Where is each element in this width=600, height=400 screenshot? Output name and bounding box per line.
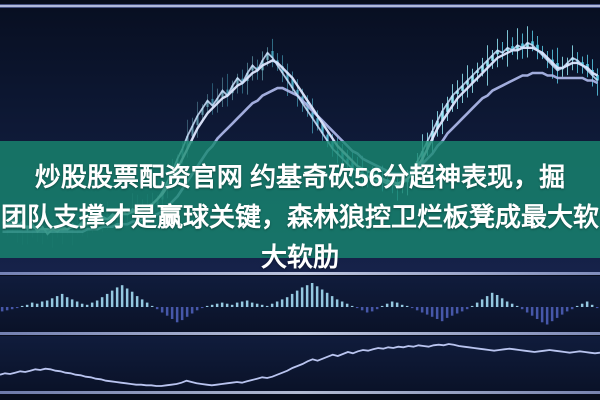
macd-bar-positive [241, 302, 244, 308]
macd-bar-positive [216, 304, 219, 307]
macd-bar-positive [231, 305, 234, 307]
macd-bar-positive [276, 302, 279, 308]
macd-bar-positive [71, 299, 74, 307]
macd-bar-negative [166, 307, 169, 316]
macd-bar-positive [36, 304, 39, 307]
macd-bar-positive [141, 299, 144, 307]
macd-bar-positive [326, 293, 329, 307]
macd-bar-positive [221, 303, 224, 307]
macd-bar-negative [16, 307, 19, 308]
macd-bar-positive [211, 305, 214, 307]
macd-bar-negative [541, 307, 544, 322]
macd-bar-positive [336, 299, 339, 307]
macd-bar-negative [566, 307, 569, 311]
macd-bar-negative [176, 307, 179, 322]
bottom-margin [0, 394, 600, 400]
macd-bar-positive [246, 301, 249, 308]
macd-bar-positive [51, 298, 54, 307]
macd-bar-negative [426, 307, 429, 315]
macd-bar-positive [306, 285, 309, 307]
macd-bar-positive [251, 303, 254, 307]
macd-bar-positive [206, 306, 209, 307]
macd-bar-negative [531, 307, 534, 316]
macd-bar-positive [271, 304, 274, 307]
macd-bar-positive [401, 305, 404, 307]
macd-bar-negative [201, 307, 204, 308]
macd-bar-positive [381, 306, 384, 307]
macd-bar-positive [81, 304, 84, 307]
macd-panel-background [0, 276, 600, 332]
macd-bar-negative [551, 307, 554, 321]
macd-bar-positive [76, 302, 79, 308]
macd-bar-positive [136, 296, 139, 307]
macd-bar-negative [366, 307, 369, 313]
macd-bar-positive [351, 306, 354, 307]
macd-bar-positive [56, 296, 59, 307]
panel-separator-bottom [0, 391, 600, 394]
macd-bar-negative [456, 307, 459, 314]
macd-bar-positive [511, 304, 514, 307]
macd-bar-negative [181, 307, 184, 320]
macd-bar-positive [151, 306, 154, 307]
macd-bar-positive [581, 304, 584, 307]
macd-bar-positive [116, 287, 119, 307]
macd-bar-negative [451, 307, 454, 316]
macd-bar-negative [441, 307, 444, 321]
macd-bar-negative [6, 307, 8, 310]
macd-bar-positive [226, 304, 229, 307]
indicator-panel-background [0, 336, 600, 392]
macd-bar-positive [586, 302, 589, 308]
macd-bar-positive [391, 302, 394, 308]
macd-bar-positive [346, 304, 349, 307]
macd-bar-positive [316, 286, 319, 307]
macd-bar-negative [161, 307, 164, 313]
macd-bar-negative [356, 307, 359, 308]
macd-bar-positive [61, 294, 64, 307]
macd-bar-negative [191, 307, 194, 314]
macd-bar-negative [521, 307, 524, 309]
macd-bar-positive [496, 295, 499, 307]
macd-bar-positive [471, 306, 474, 307]
macd-bar-negative [461, 307, 464, 311]
macd-bar-positive [236, 303, 239, 307]
macd-bar-positive [301, 287, 304, 307]
macd-bar-positive [486, 296, 489, 307]
macd-bar-positive [516, 306, 519, 307]
macd-bar-positive [146, 303, 149, 307]
macd-bar-negative [431, 307, 434, 317]
macd-bar-positive [126, 289, 128, 308]
panel-separator-top [0, 272, 600, 275]
macd-bar-positive [321, 290, 324, 308]
macd-bar-negative [536, 307, 539, 319]
macd-histogram-panel [0, 276, 600, 332]
macd-bar-positive [121, 285, 124, 307]
macd-bar-positive [21, 306, 24, 307]
stock-chart-wallpaper-banner: 炒股股票配资官网 约基奇砍56分超神表现，掘 团队支撑才是赢球关键，森林狼控卫烂… [0, 0, 600, 400]
macd-bar-negative [446, 307, 449, 318]
macd-bar-positive [66, 297, 69, 307]
macd-bar-negative [526, 307, 529, 313]
panel-separator-middle [0, 332, 600, 335]
macd-bar-negative [156, 307, 159, 309]
macd-bar-positive [591, 305, 594, 307]
macd-bar-positive [31, 303, 34, 307]
macd-bar-negative [361, 307, 364, 310]
macd-bar-positive [41, 302, 44, 308]
macd-bar-negative [416, 307, 419, 310]
macd-bar-positive [506, 302, 509, 308]
macd-bar-positive [281, 299, 284, 307]
top-rule-highlight [0, 5, 600, 7]
macd-bar-negative [196, 307, 199, 310]
macd-bar-positive [481, 299, 484, 307]
macd-bar-negative [11, 307, 14, 309]
macd-bar-positive [386, 304, 389, 307]
macd-bar-positive [106, 294, 109, 307]
indicator-line-panel [0, 336, 600, 392]
macd-bar-negative [571, 307, 574, 309]
macd-bar-negative [371, 307, 374, 311]
macd-bar-positive [266, 306, 269, 307]
macd-bar-positive [341, 302, 344, 308]
macd-bar-negative [421, 307, 424, 313]
macd-bar-positive [491, 293, 494, 307]
macd-bar-positive [406, 306, 409, 307]
macd-bar-positive [86, 305, 89, 307]
macd-bar-positive [101, 297, 104, 307]
macd-bar-negative [556, 307, 559, 318]
macd-bar-positive [331, 296, 334, 307]
macd-bar-negative [546, 307, 549, 325]
macd-bar-positive [501, 298, 504, 307]
macd-bar-positive [46, 301, 49, 308]
macd-bar-negative [411, 307, 414, 308]
macd-bar-negative [466, 307, 469, 309]
macd-bar-positive [396, 303, 399, 307]
macd-bar-negative [1, 307, 4, 311]
macd-bar-positive [96, 301, 99, 308]
macd-bar-positive [111, 291, 114, 307]
headline-banner-band [0, 141, 600, 258]
macd-bar-negative [376, 307, 379, 309]
macd-bar-positive [576, 306, 579, 307]
macd-bar-negative [186, 307, 189, 317]
macd-bar-positive [476, 303, 479, 307]
macd-bar-positive [91, 303, 94, 307]
macd-bar-positive [296, 291, 299, 307]
macd-bar-positive [311, 283, 314, 307]
macd-bar-negative [436, 307, 439, 319]
macd-bar-negative [171, 307, 174, 319]
macd-bar-positive [261, 305, 264, 307]
macd-bar-positive [291, 294, 294, 307]
macd-bar-positive [131, 292, 134, 307]
macd-bar-negative [561, 307, 564, 315]
macd-bar-positive [286, 297, 289, 307]
macd-bar-positive [26, 305, 29, 307]
macd-bar-negative [596, 307, 599, 308]
macd-bar-positive [256, 304, 259, 307]
